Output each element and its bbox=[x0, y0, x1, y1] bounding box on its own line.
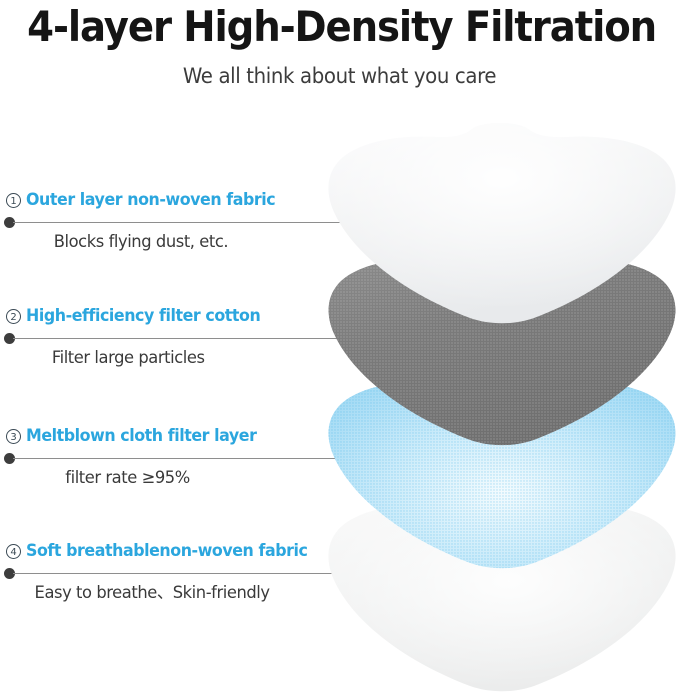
mask-layer-outer-non-woven-fabric bbox=[322, 112, 679, 327]
leader-line bbox=[13, 573, 372, 574]
leader-line bbox=[13, 338, 365, 339]
leader-line bbox=[13, 222, 370, 223]
mask-layer-stack-illustration bbox=[322, 112, 679, 672]
callout-title-4: Soft breathablenon-woven fabric bbox=[26, 541, 307, 561]
callout-title-2: High-efficiency filter cotton bbox=[26, 306, 260, 326]
callout-title-1: Outer layer non-woven fabric bbox=[26, 190, 275, 210]
callout-title-3: Meltblown cloth filter layer bbox=[26, 426, 256, 446]
leader-line bbox=[13, 458, 370, 459]
circled-number-3-icon: 3 bbox=[6, 429, 21, 444]
circled-number-1-icon: 1 bbox=[6, 193, 21, 208]
circled-number-4-icon: 4 bbox=[6, 544, 21, 559]
circled-number-2-icon: 2 bbox=[6, 309, 21, 324]
